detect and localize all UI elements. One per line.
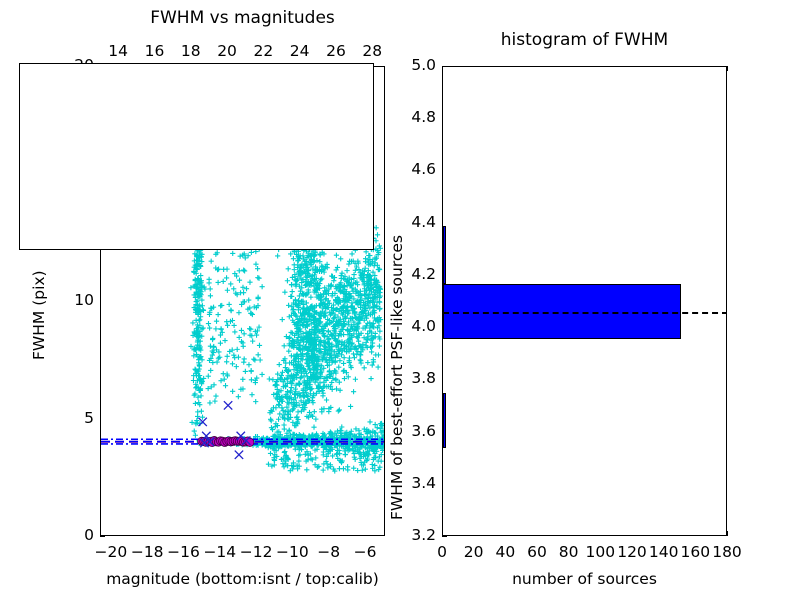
resultant-fwhm-line: [443, 312, 726, 314]
left-tick-label: 0: [52, 526, 94, 544]
histogram-y-tick-mark: [442, 536, 447, 537]
histogram-bar: [443, 226, 446, 283]
histogram-y-tick-label: 5.0: [396, 56, 436, 74]
histogram-bar: [443, 284, 681, 339]
legend-box: [19, 63, 374, 250]
histogram-x-tick-mark-top: [727, 66, 728, 71]
histogram-y-tick-label: 4.8: [396, 108, 436, 126]
histogram-plot-area: [443, 67, 726, 535]
histogram-xlabel: number of sources: [442, 570, 727, 588]
histogram-y-tick-label: 4.6: [396, 160, 436, 178]
scatter-panel: FWHM vs magnitudes 1416182022242628 −20−…: [0, 0, 400, 600]
histogram-bar: [443, 393, 446, 448]
scatter-ylabel: FWHM (pix): [30, 270, 48, 360]
left-tick-label: 5: [52, 409, 94, 427]
histogram-x-tick-mark: [727, 531, 728, 536]
top-tick-label: 28: [350, 42, 394, 60]
histogram-title: histogram of FWHM: [442, 30, 727, 50]
histogram-y-tick-label: 4.4: [396, 213, 436, 231]
histogram-y-tick-label: 3.2: [396, 526, 436, 544]
bottom-tick-label: −6: [343, 543, 387, 561]
histogram-ylabel: FWHM of best-effort PSF-like sources: [388, 235, 406, 520]
histogram-x-tick-label: 180: [705, 543, 749, 561]
scatter-xlabel: magnitude (bottom:isnt / top:calib): [100, 570, 385, 588]
left-tick-mark: [100, 536, 105, 537]
histogram-panel: histogram of FWHM 0204060801001201401601…: [400, 0, 800, 600]
left-tick-label: 10: [52, 291, 94, 309]
figure-canvas: FWHM vs magnitudes 1416182022242628 −20−…: [0, 0, 800, 600]
scatter-title: FWHM vs magnitudes: [100, 8, 385, 28]
histogram-axes: [442, 66, 727, 536]
